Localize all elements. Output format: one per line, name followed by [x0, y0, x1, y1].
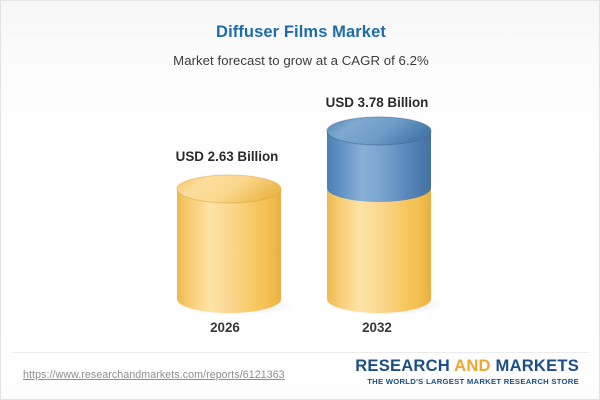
logo-word-markets: MARKETS [496, 356, 579, 375]
bar-category-label-2032: 2032 [297, 320, 457, 335]
research-and-markets-logo[interactable]: RESEARCH AND MARKETS THE WORLD'S LARGEST… [355, 358, 579, 385]
bar-cylinder-2026[interactable] [172, 171, 286, 317]
plot-area: USD 2.63 Billion [1, 1, 600, 346]
footer-divider [13, 352, 589, 353]
logo-word-and: AND [454, 356, 495, 375]
logo-word-research: RESEARCH [355, 356, 454, 375]
chart-canvas: Diffuser Films Market Market forecast to… [0, 0, 600, 400]
bar-value-label-2026: USD 2.63 Billion [117, 149, 337, 164]
logo-wordmark: RESEARCH AND MARKETS [355, 358, 579, 375]
bar-cylinder-2032[interactable] [322, 113, 436, 317]
bar-category-label-2026: 2026 [145, 320, 305, 335]
bar-value-label-2032: USD 3.78 Billion [267, 95, 487, 110]
source-url-link[interactable]: https://www.researchandmarkets.com/repor… [23, 369, 285, 381]
logo-tagline: THE WORLD'S LARGEST MARKET RESEARCH STOR… [355, 378, 579, 386]
